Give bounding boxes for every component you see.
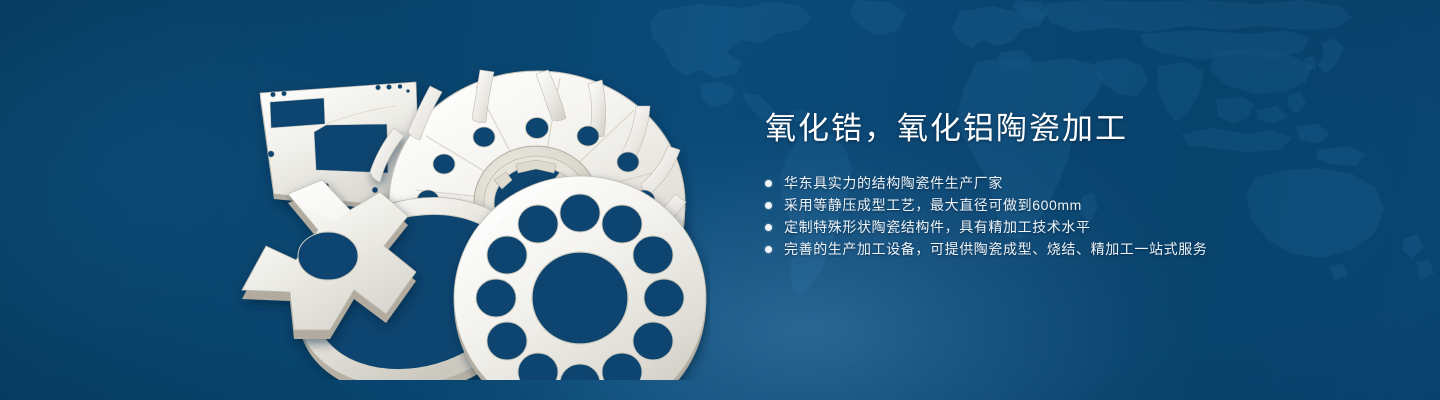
banner-copy: 氧化锆，氧化铝陶瓷加工 华东具实力的结构陶瓷件生产厂家 采用等静压成型工艺，最大…	[765, 108, 1385, 260]
bullet-dot-icon	[765, 224, 772, 231]
hero-banner: 氧化锆，氧化铝陶瓷加工 华东具实力的结构陶瓷件生产厂家 采用等静压成型工艺，最大…	[0, 0, 1440, 400]
list-item: 华东具实力的结构陶瓷件生产厂家	[765, 172, 1385, 194]
feature-text: 定制特殊形状陶瓷结构件，具有精加工技术水平	[784, 216, 1091, 238]
bullet-dot-icon	[765, 180, 772, 187]
bullet-dot-icon	[765, 246, 772, 253]
list-item: 完善的生产加工设备，可提供陶瓷成型、烧结、精加工一站式服务	[765, 238, 1385, 260]
list-item: 定制特殊形状陶瓷结构件，具有精加工技术水平	[765, 216, 1385, 238]
list-item: 采用等静压成型工艺，最大直径可做到600mm	[765, 194, 1385, 216]
ceramic-products-photo	[230, 40, 710, 380]
ceramic-cross-part	[242, 180, 416, 339]
feature-text: 华东具实力的结构陶瓷件生产厂家	[784, 172, 1003, 194]
feature-text: 完善的生产加工设备，可提供陶瓷成型、烧结、精加工一站式服务	[784, 238, 1207, 260]
page-title: 氧化锆，氧化铝陶瓷加工	[765, 108, 1385, 150]
bullet-dot-icon	[765, 202, 772, 209]
feature-list: 华东具实力的结构陶瓷件生产厂家 采用等静压成型工艺，最大直径可做到600mm 定…	[765, 172, 1385, 260]
feature-text: 采用等静压成型工艺，最大直径可做到600mm	[784, 194, 1082, 216]
